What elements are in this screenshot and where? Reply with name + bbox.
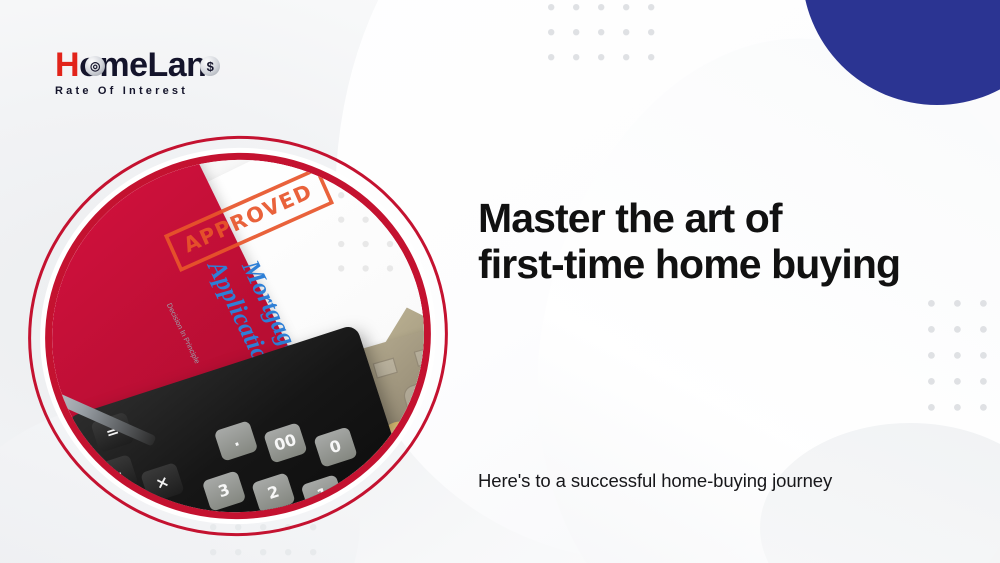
logo-letter-l: L bbox=[147, 46, 167, 84]
calculator-key: × bbox=[140, 462, 185, 503]
logo-tagline: Rate Of Interest bbox=[55, 85, 285, 97]
headline-line-1: Master the art of bbox=[478, 196, 988, 242]
globe-icon: ◎ bbox=[85, 56, 105, 76]
calculator-key: 3 bbox=[202, 470, 247, 511]
headline-line-2: first-time home buying bbox=[478, 242, 988, 288]
calculator-key: . bbox=[214, 420, 259, 461]
dot-grid-right bbox=[928, 300, 1000, 418]
pen-tip bbox=[27, 410, 41, 425]
dollar-icon: $ bbox=[200, 56, 220, 76]
banner-root: HomeLan ◎ $ Rate Of Interest Master the … bbox=[0, 0, 1000, 563]
logo-wordmark: HomeLan ◎ $ bbox=[55, 48, 285, 82]
logo[interactable]: HomeLan ◎ $ Rate Of Interest bbox=[55, 48, 285, 97]
calculator-key: − bbox=[94, 454, 139, 495]
calculator-key: + bbox=[100, 496, 145, 537]
subtitle: Here's to a successful home-buying journ… bbox=[478, 470, 832, 492]
calculator-key: 2 bbox=[251, 472, 296, 513]
calculator-key: 00 bbox=[263, 422, 308, 463]
dot-grid-top bbox=[548, 4, 678, 66]
calculator-key: 0 bbox=[313, 426, 358, 467]
background-swoosh-d bbox=[760, 423, 1000, 563]
calculator-key: ← bbox=[110, 536, 155, 538]
logo-letter-h: H bbox=[55, 46, 79, 84]
hero-image: APPROVED Mortgage Application Form Decis… bbox=[28, 136, 448, 536]
blue-corner-circle bbox=[802, 0, 1000, 105]
page-title: Master the art of first-time home buying bbox=[478, 196, 988, 288]
photo-disc: APPROVED Mortgage Application Form Decis… bbox=[27, 134, 449, 538]
photo-content: APPROVED Mortgage Application Form Decis… bbox=[27, 134, 449, 538]
